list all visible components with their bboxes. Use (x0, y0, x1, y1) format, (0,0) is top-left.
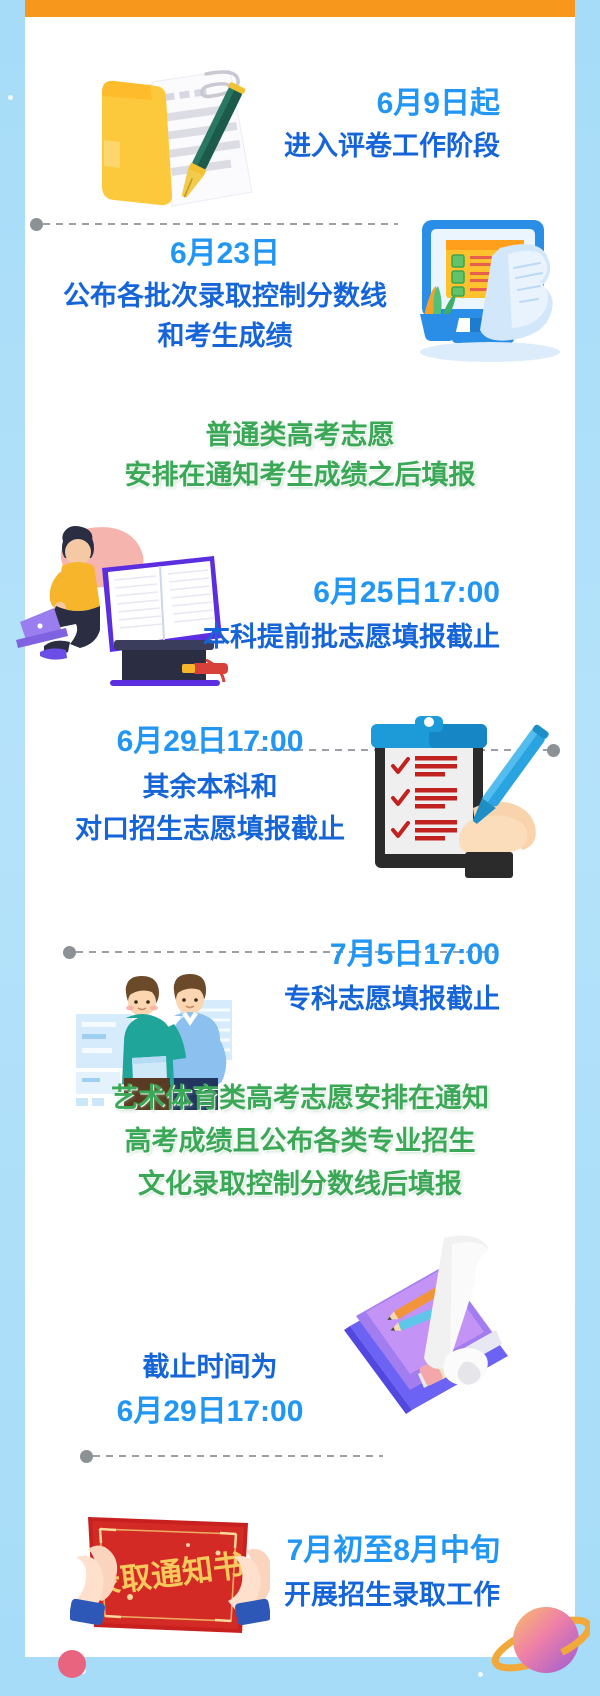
green-banner-2-line-1: 艺术体育类高考志愿安排在通知 (25, 1077, 575, 1120)
timeline-dot-1 (30, 218, 43, 231)
timeline-dash-1 (43, 223, 398, 225)
pink-ball-decoration (58, 1650, 86, 1678)
timeline-item-7-desc-line-1: 开展招生录取工作 (200, 1574, 500, 1616)
timeline-item-6-date: 6月29日17:00 (50, 1389, 370, 1435)
timeline-dash-6 (93, 1455, 383, 1457)
timeline-item-4-desc-line-2: 对口招生志愿填报截止 (40, 808, 380, 850)
timeline-item-2-desc-line-2: 和考生成绩 (25, 316, 425, 356)
timeline-item-2-text: 6月23日 公布各批次录取控制分数线 和考生成绩 (25, 232, 425, 356)
timeline-item-1-desc-line-1: 进入评卷工作阶段 (200, 126, 500, 166)
timeline-item-4-date: 6月29日17:00 (40, 718, 380, 766)
timeline-item-1-date: 6月9日起 (200, 82, 500, 126)
timeline-item-5-date: 7月5日17:00 (200, 932, 500, 978)
green-banner-1-line-1: 普通类高考志愿 (25, 415, 575, 455)
deadline-label: 截止时间为 (50, 1345, 370, 1389)
green-banner-2: 艺术体育类高考志愿安排在通知 高考成绩且公布各类专业招生 文化录取控制分数线后填… (25, 1077, 575, 1206)
clipboard-checklist-pen-icon (355, 700, 555, 890)
red-marker-icon (178, 658, 236, 680)
infographic-poster: 6月9日起 进入评卷工作阶段 (0, 0, 600, 1696)
timeline-item-3-text: 6月25日17:00 本科提前批志愿填报截止 (180, 570, 500, 658)
monitor-scorelist-icon (408, 210, 573, 370)
green-banner-1: 普通类高考志愿 安排在通知考生成绩之后填报 (25, 415, 575, 495)
top-orange-band (25, 0, 575, 17)
timeline-dot-4 (63, 946, 76, 959)
timeline-item-3-date: 6月25日17:00 (180, 570, 500, 616)
timeline-item-2-date: 6月23日 (25, 232, 425, 276)
timeline-item-6-text: 截止时间为 6月29日17:00 (50, 1345, 370, 1435)
timeline-item-4-desc-line-1: 其余本科和 (40, 766, 380, 808)
green-banner-1-line-2: 安排在通知考生成绩之后填报 (25, 455, 575, 495)
timeline-item-4-text: 6月29日17:00 其余本科和 对口招生志愿填报截止 (40, 718, 380, 850)
timeline-dot-6 (80, 1450, 93, 1463)
timeline-item-7-text: 7月初至8月中旬 开展招生录取工作 (200, 1528, 500, 1616)
background-dot (8, 95, 13, 100)
planet-decoration (480, 1592, 590, 1692)
green-banner-2-line-2: 高考成绩且公布各类专业招生 (25, 1120, 575, 1163)
timeline-item-5-desc-line-1: 专科志愿填报截止 (200, 978, 500, 1020)
timeline-item-5-text: 7月5日17:00 专科志愿填报截止 (200, 932, 500, 1020)
green-banner-2-line-3: 文化录取控制分数线后填报 (25, 1163, 575, 1206)
timeline-item-3-desc-line-1: 本科提前批志愿填报截止 (180, 616, 500, 658)
timeline-item-7-date: 7月初至8月中旬 (200, 1528, 500, 1574)
timeline-item-1-text: 6月9日起 进入评卷工作阶段 (200, 82, 500, 166)
timeline-item-2-desc-line-1: 公布各批次录取控制分数线 (25, 276, 425, 316)
